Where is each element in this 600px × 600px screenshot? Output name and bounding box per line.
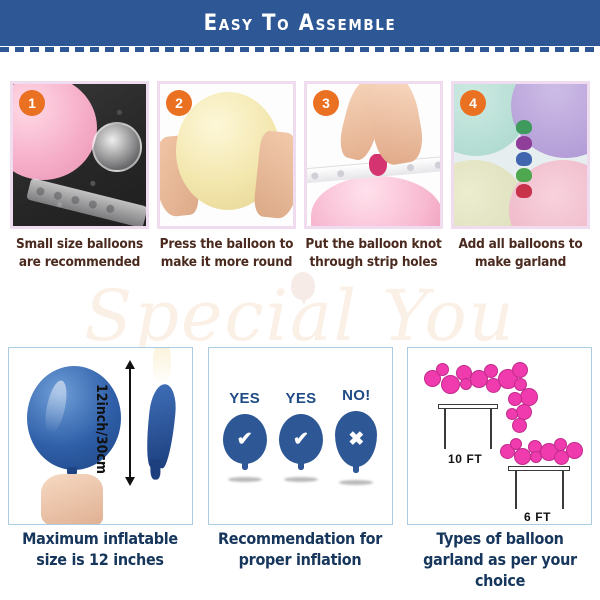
- step-card-4: 4: [451, 81, 590, 229]
- bottom-caption-size-line1: Maximum inflatable: [2, 529, 198, 550]
- bottom-caption-size: Maximum inflatable size is 12 inches: [0, 529, 200, 581]
- inflation-label-yes-2: YES: [286, 390, 317, 407]
- garland-blob: [512, 418, 527, 433]
- step-caption-4: Add all balloons to make garland: [451, 236, 590, 278]
- balloon-check-icon-1: ✔: [223, 414, 267, 464]
- garland-blob: [436, 363, 449, 376]
- step-number-badge-1: 1: [19, 90, 45, 116]
- header-band: Easy To Assemble: [0, 0, 600, 46]
- table-leg: [490, 409, 492, 449]
- step-caption-4-line2: make garland: [451, 254, 590, 272]
- balloon-clip-shape: [516, 184, 532, 198]
- ribbon-shape: [153, 347, 171, 386]
- bottom-caption-size-line2: size is 12 inches: [2, 550, 198, 571]
- garland-blob: [566, 442, 583, 459]
- hand-shape: [41, 474, 103, 525]
- table-top-10ft: [438, 404, 498, 409]
- table-top-6ft: [508, 466, 570, 471]
- table-leg: [444, 409, 446, 449]
- page-title: Easy To Assemble: [204, 11, 397, 36]
- dimension-label: 12inch/30cm: [93, 384, 109, 474]
- bottom-caption-garland-line1: Types of balloon: [402, 529, 598, 550]
- step-caption-4-line1: Add all balloons to: [451, 236, 590, 254]
- bottom-caption-inflation-line1: Recommendation for: [202, 529, 398, 550]
- step-number-badge-3: 3: [313, 90, 339, 116]
- inflation-label-yes-1: YES: [229, 390, 260, 407]
- inflation-example-yes-2: YES ✔: [279, 390, 323, 482]
- inflation-example-no: NO! ✖: [335, 387, 377, 485]
- step-card-3: 3: [304, 81, 443, 229]
- inflation-examples: YES ✔ YES ✔ NO! ✖: [209, 348, 392, 524]
- bottom-caption-inflation-line2: proper inflation: [202, 550, 398, 571]
- balloon-clip-shape: [516, 152, 532, 166]
- header-dashed-divider: [0, 47, 600, 52]
- inflation-panel: YES ✔ YES ✔ NO! ✖: [208, 347, 393, 525]
- bottom-captions-row: Maximum inflatable size is 12 inches Rec…: [0, 529, 600, 581]
- garland-size-label-6ft: 6 FT: [524, 510, 551, 524]
- check-icon: ✔: [237, 430, 253, 449]
- dimension-arrow-icon: [129, 368, 131, 478]
- garland-panel: 10 FT 6 FT: [407, 347, 592, 525]
- check-icon: ✔: [293, 430, 309, 449]
- step-captions-row: Small size balloons are recommended Pres…: [10, 236, 590, 278]
- close-icon: ✖: [348, 430, 364, 449]
- step-caption-3-line2: through strip holes: [304, 254, 443, 272]
- garland-blob: [512, 362, 528, 378]
- clear-coil-shape: [92, 122, 142, 172]
- bottom-caption-inflation: Recommendation for proper inflation: [200, 529, 400, 581]
- balloon-clip-shape: [516, 168, 532, 182]
- steps-row: 1 2 3: [10, 81, 590, 229]
- step-card-2: 2: [157, 81, 296, 229]
- step-caption-3: Put the balloon knot through strip holes: [304, 236, 443, 278]
- bottom-panels-row: 12inch/30cm YES ✔ YES ✔ NO!: [8, 347, 592, 525]
- balloon-shadow: [228, 477, 262, 482]
- step-caption-1-line1: Small size balloons: [10, 236, 149, 254]
- bottom-caption-garland-line2: garland as per your choice: [402, 550, 598, 592]
- garland-blob: [484, 364, 498, 378]
- garland-size-label-10ft: 10 FT: [448, 452, 482, 466]
- balloon-shadow: [339, 480, 373, 485]
- step-caption-1: Small size balloons are recommended: [10, 236, 149, 278]
- step-caption-2-line1: Press the balloon to: [157, 236, 296, 254]
- step-number-badge-4: 4: [460, 90, 486, 116]
- balloon-check-icon-2: ✔: [279, 414, 323, 464]
- balloon-clip-shape: [516, 120, 532, 134]
- balloon-clip-shape: [516, 136, 532, 150]
- table-leg: [515, 471, 517, 509]
- inflation-example-yes-1: YES ✔: [223, 390, 267, 482]
- table-leg: [562, 471, 564, 509]
- step-caption-2-line2: make it more round: [157, 254, 296, 272]
- step-caption-3-line1: Put the balloon knot: [304, 236, 443, 254]
- step-number-badge-2: 2: [166, 90, 192, 116]
- inflation-label-no: NO!: [342, 387, 370, 404]
- step-caption-2: Press the balloon to make it more round: [157, 236, 296, 278]
- balloon-cross-icon: ✖: [335, 411, 377, 467]
- step-caption-1-line2: are recommended: [10, 254, 149, 272]
- balloon-shadow: [284, 477, 318, 482]
- size-panel: 12inch/30cm: [8, 347, 193, 525]
- step-card-1: 1: [10, 81, 149, 229]
- bottom-caption-garland: Types of balloon garland as per your cho…: [400, 529, 600, 581]
- deflated-balloon-shape: [144, 383, 179, 469]
